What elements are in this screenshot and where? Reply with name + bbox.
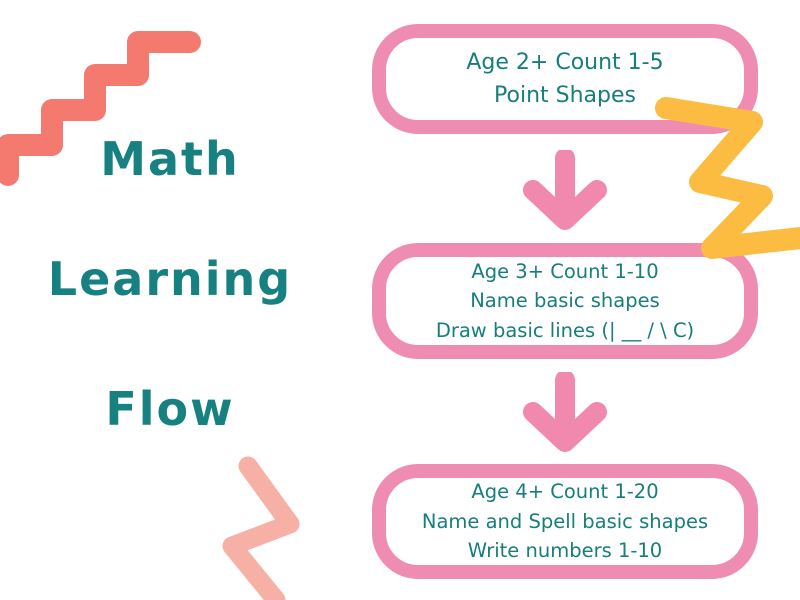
flow-box-stage-age-4[interactable]: Age 4+ Count 1-20 Name and Spell basic s… — [372, 464, 758, 579]
poster-title: Math Learning Flow — [0, 130, 340, 460]
flow-box-stage-age-3[interactable]: Age 3+ Count 1-10 Name basic shapes Draw… — [372, 243, 758, 359]
flow-box-line: Name basic shapes — [470, 286, 660, 316]
flow-box-line: Age 3+ Count 1-10 — [471, 257, 658, 287]
flow-box-line: Write numbers 1-10 — [468, 536, 662, 566]
flow-box-stage-age-2[interactable]: Age 2+ Count 1-5 Point Shapes — [372, 24, 758, 134]
flow-box-line: Name and Spell basic shapes — [422, 507, 708, 537]
title-line-flow: Flow — [0, 382, 364, 436]
arrow-stage1-to-stage2 — [517, 150, 613, 234]
title-line-learning: Learning — [0, 252, 358, 306]
flow-box-line: Point Shapes — [494, 79, 636, 112]
poster-canvas: Math Learning Flow Age 2+ Count 1-5 Poin… — [0, 0, 800, 600]
title-line-math: Math — [0, 132, 380, 186]
flow-box-line: Age 2+ Count 1-5 — [466, 46, 663, 79]
flow-box-line: Draw basic lines (| __ / \ C) — [436, 316, 694, 346]
pink-zigzag-bottom-left-icon — [232, 466, 290, 600]
arrow-stage2-to-stage3 — [517, 372, 613, 456]
flow-box-line: Age 4+ Count 1-20 — [471, 477, 658, 507]
flowchart: Age 2+ Count 1-5 Point Shapes Age 3+ Cou… — [372, 0, 762, 600]
